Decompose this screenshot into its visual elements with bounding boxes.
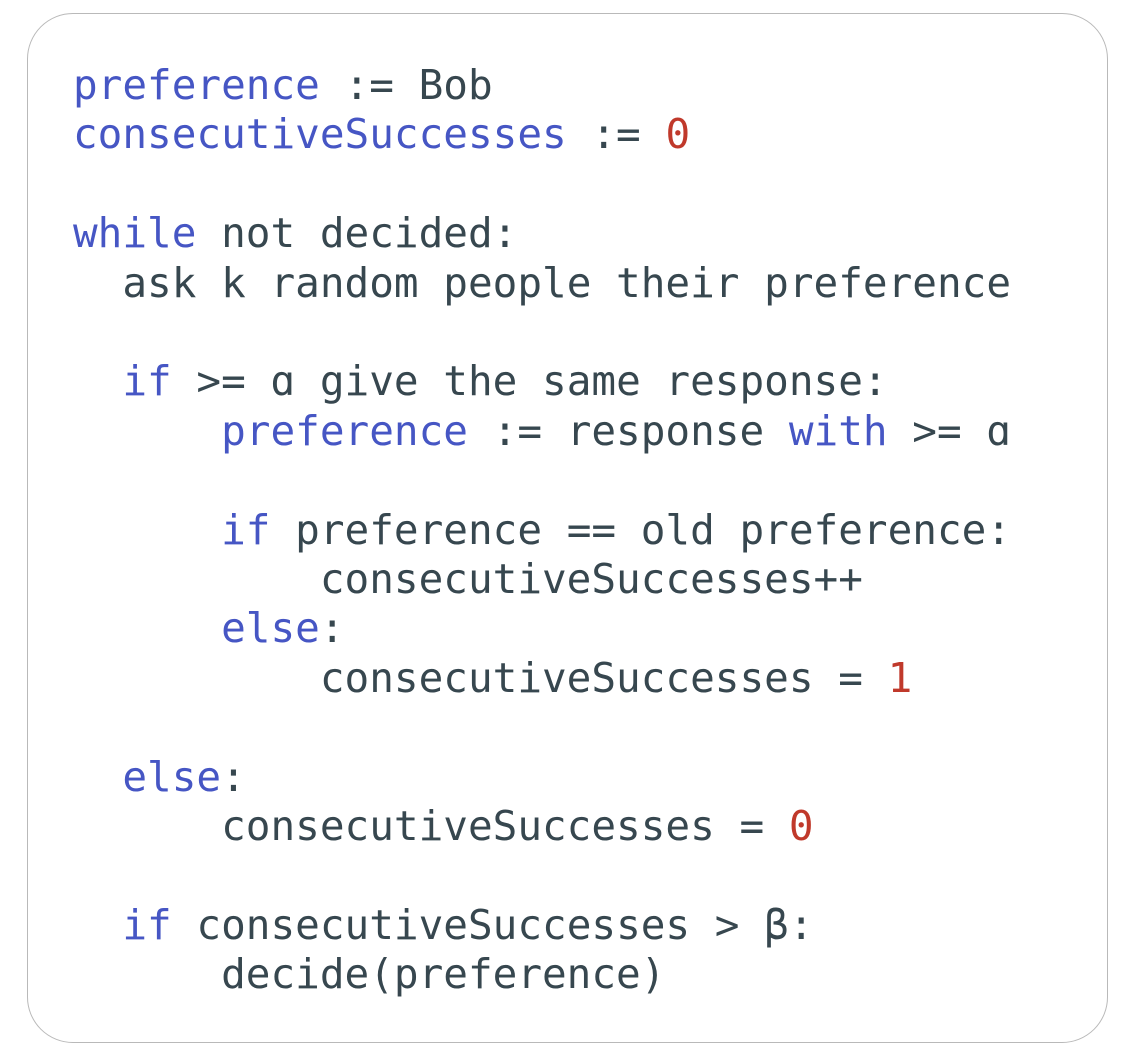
code-token-plain: consecutiveSuccesses = <box>320 654 888 702</box>
code-token-var: preference <box>221 407 468 455</box>
code-token-var: preference <box>73 61 320 109</box>
code-indent <box>73 901 122 949</box>
code-token-kw: else <box>122 753 221 801</box>
code-line: consecutiveSuccesses = 1 <box>73 654 1011 703</box>
code-line-blank <box>73 703 1011 752</box>
code-token-plain: ask k random people their preference <box>122 259 1011 307</box>
code-token-plain: : <box>221 753 246 801</box>
code-token-plain: := <box>567 110 666 158</box>
code-token-plain: consecutiveSuccesses = <box>221 802 789 850</box>
code-line: else: <box>73 604 1011 653</box>
code-token-num: 0 <box>665 110 690 158</box>
code-token-plain: decide(preference) <box>221 950 665 998</box>
code-line-blank <box>73 308 1011 357</box>
code-line: preference := response with >= ɑ <box>73 407 1011 456</box>
code-token-plain: not decided: <box>196 209 517 257</box>
code-token-plain: : <box>320 604 345 652</box>
code-token-kw: if <box>122 901 171 949</box>
code-token-kw: with <box>789 407 888 455</box>
code-token-plain: >= ɑ <box>888 407 1011 455</box>
code-line-blank <box>73 851 1011 900</box>
code-indent <box>73 407 221 455</box>
code-indent <box>73 950 221 998</box>
code-indent <box>73 802 221 850</box>
code-line: consecutiveSuccesses++ <box>73 555 1011 604</box>
code-token-plain: consecutiveSuccesses++ <box>320 555 863 603</box>
code-line-blank <box>73 456 1011 505</box>
code-line: ask k random people their preference <box>73 259 1011 308</box>
code-line: if preference == old preference: <box>73 506 1011 555</box>
code-indent <box>73 604 221 652</box>
code-card: preference := BobconsecutiveSuccesses :=… <box>27 13 1108 1043</box>
code-indent <box>73 259 122 307</box>
code-line: consecutiveSuccesses = 0 <box>73 802 1011 851</box>
code-indent <box>73 506 221 554</box>
code-token-kw: while <box>73 209 196 257</box>
code-line: decide(preference) <box>73 950 1011 999</box>
code-token-plain: preference == old preference: <box>270 506 1011 554</box>
code-line-blank <box>73 160 1011 209</box>
code-line: else: <box>73 753 1011 802</box>
code-indent <box>73 357 122 405</box>
code-token-plain: consecutiveSuccesses > β: <box>172 901 814 949</box>
code-line: consecutiveSuccesses := 0 <box>73 110 1011 159</box>
code-line: preference := Bob <box>73 61 1011 110</box>
code-line: if >= ɑ give the same response: <box>73 357 1011 406</box>
code-block: preference := BobconsecutiveSuccesses :=… <box>73 61 1011 1000</box>
code-token-kw: if <box>221 506 270 554</box>
code-token-num: 1 <box>888 654 913 702</box>
code-token-plain: >= ɑ give the same response: <box>172 357 888 405</box>
code-line: if consecutiveSuccesses > β: <box>73 901 1011 950</box>
code-token-var: consecutiveSuccesses <box>73 110 567 158</box>
code-indent <box>73 555 320 603</box>
code-token-num: 0 <box>789 802 814 850</box>
code-token-plain: := response <box>468 407 789 455</box>
code-token-kw: else <box>221 604 320 652</box>
code-token-kw: if <box>122 357 171 405</box>
code-indent <box>73 654 320 702</box>
code-token-plain: := Bob <box>320 61 493 109</box>
code-indent <box>73 753 122 801</box>
code-line: while not decided: <box>73 209 1011 258</box>
